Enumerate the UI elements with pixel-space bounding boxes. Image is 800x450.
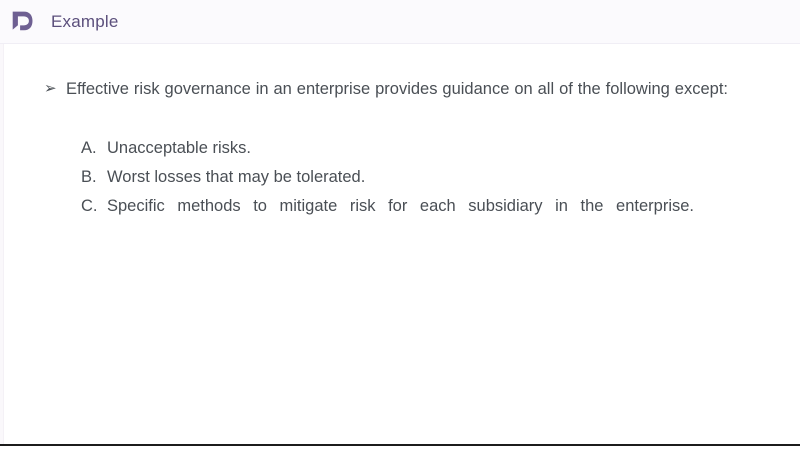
option-marker: C. [81, 192, 107, 221]
option-text: Specific methods to mitigate risk for ea… [107, 192, 694, 250]
slide-content: ➢ Effective risk governance in an enterp… [0, 44, 800, 444]
option-text: Unacceptable risks. [107, 134, 694, 163]
bottom-rule [0, 444, 800, 446]
main-bullet-text: Effective risk governance in an enterpri… [66, 74, 728, 134]
option-marker: B. [81, 163, 107, 192]
list-item: B. Worst losses that may be tolerated. [81, 163, 694, 192]
list-item: A. Unacceptable risks. [81, 134, 694, 163]
arrow-bullet-icon: ➢ [44, 74, 66, 104]
answer-options-list: A. Unacceptable risks. B. Worst losses t… [44, 134, 728, 250]
page-title: Example [51, 12, 119, 32]
main-bullet-item: ➢ Effective risk governance in an enterp… [44, 74, 728, 134]
bookmark-ribbon-logo-icon [9, 9, 35, 35]
slide: Example ➢ Effective risk governance in a… [0, 0, 800, 450]
list-item: C. Specific methods to mitigate risk for… [81, 192, 694, 250]
option-text: Worst losses that may be tolerated. [107, 163, 694, 192]
option-marker: A. [81, 134, 107, 163]
slide-header: Example [0, 0, 800, 44]
